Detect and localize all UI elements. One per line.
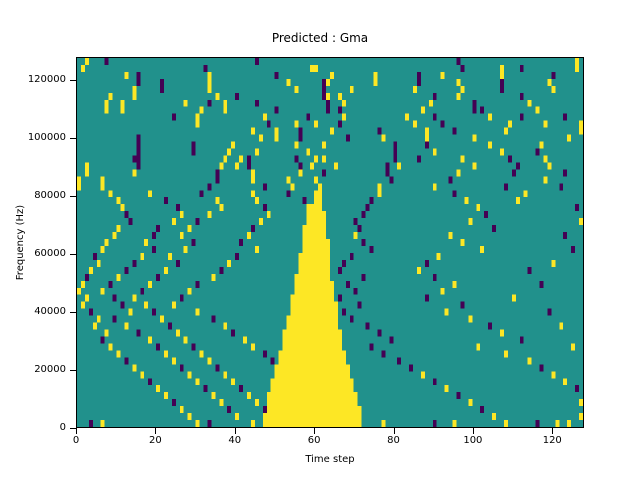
x-axis-tick-mark (473, 428, 474, 434)
y-axis-tick-mark (70, 370, 76, 371)
x-axis-tick-mark (155, 428, 156, 434)
heatmap-image (77, 58, 583, 427)
y-axis-tick-label: 40000 (34, 307, 66, 317)
x-axis-label: Time step (76, 454, 584, 466)
x-axis-tick-mark (76, 428, 77, 434)
y-axis-tick-mark (70, 196, 76, 197)
x-axis-tick-mark (552, 428, 553, 434)
chart-title: Predicted : Gma (0, 31, 640, 45)
y-axis-tick-mark (70, 138, 76, 139)
y-axis-tick-label: 0 (60, 423, 66, 433)
y-axis-tick-mark (70, 312, 76, 313)
x-axis-tick-mark (394, 428, 395, 434)
x-axis-tick-label: 0 (73, 436, 79, 446)
y-axis-tick-label: 20000 (34, 365, 66, 375)
x-axis-tick-mark (235, 428, 236, 434)
x-axis-tick-mark (314, 428, 315, 434)
y-axis-tick-label: 60000 (34, 249, 66, 259)
x-axis-tick-label: 60 (308, 436, 321, 446)
x-axis-tick-label: 120 (543, 436, 562, 446)
x-axis-tick-label: 80 (387, 436, 400, 446)
y-axis-tick-mark (70, 80, 76, 81)
x-axis-tick-label: 20 (149, 436, 162, 446)
matplotlib-figure: Predicted : Gma 020000400006000080000100… (0, 0, 640, 480)
y-axis-tick-label: 80000 (34, 191, 66, 201)
x-axis-tick-label: 100 (463, 436, 482, 446)
y-axis-label: Frequency (Hz) (14, 57, 28, 428)
y-axis-tick-label: 100000 (28, 133, 66, 143)
heatmap-axes (76, 57, 584, 428)
x-axis-tick-label: 40 (228, 436, 241, 446)
y-axis-tick-mark (70, 254, 76, 255)
y-axis-tick-label: 120000 (28, 75, 66, 85)
